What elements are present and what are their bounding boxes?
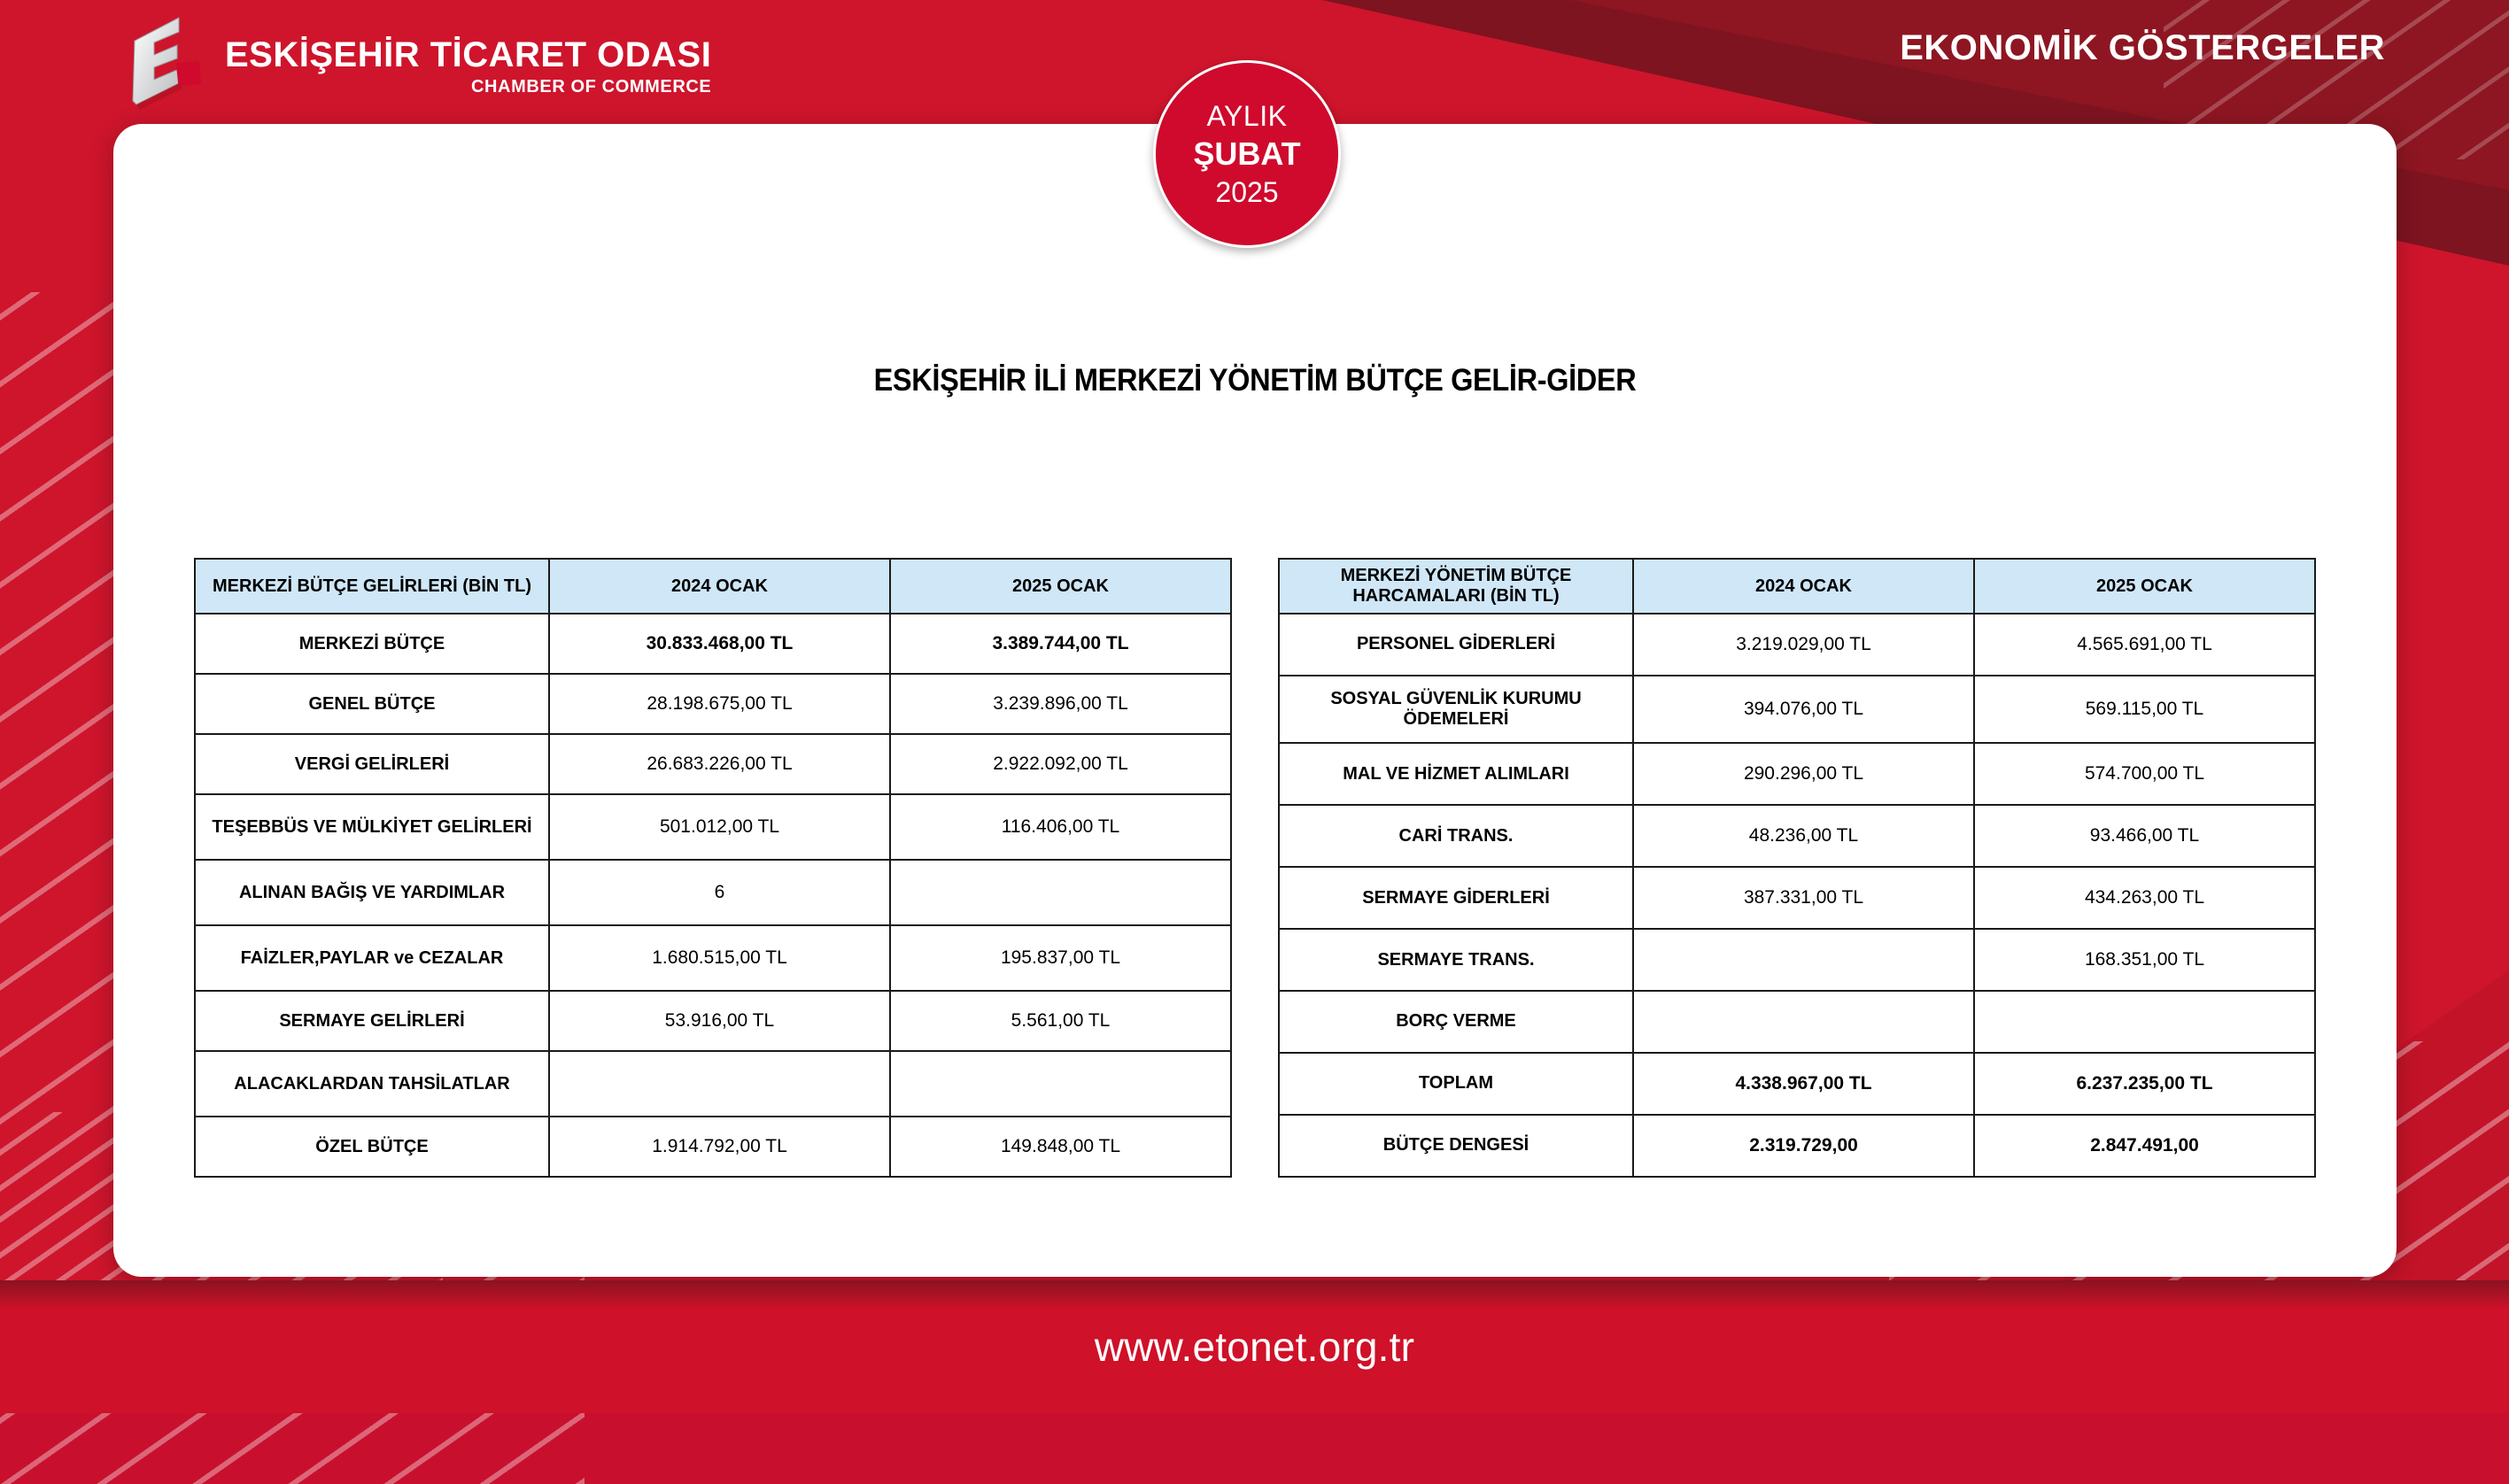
cell-value-2024: 28.198.675,00 TL	[549, 674, 890, 734]
table-row: TOPLAM4.338.967,00 TL6.237.235,00 TL	[1279, 1053, 2315, 1115]
cell-value-2025: 434.263,00 TL	[1974, 867, 2315, 929]
table-row: SOSYAL GÜVENLİK KURUMU ÖDEMELERİ394.076,…	[1279, 676, 2315, 743]
cell-value-2024	[549, 1051, 890, 1117]
cell-value-2024	[1633, 929, 1974, 991]
cell-value-2024: 53.916,00 TL	[549, 991, 890, 1051]
cell-value-2024: 1.914.792,00 TL	[549, 1117, 890, 1177]
table-row: FAİZLER,PAYLAR ve CEZALAR1.680.515,00 TL…	[195, 925, 1231, 991]
table-row: CARİ TRANS.48.236,00 TL93.466,00 TL	[1279, 805, 2315, 867]
revenues-header-label: MERKEZİ BÜTÇE GELİRLERİ (BİN TL)	[195, 559, 549, 614]
cell-value-2025: 569.115,00 TL	[1974, 676, 2315, 743]
eto-logo-icon	[124, 16, 205, 112]
table-row: ALINAN BAĞIŞ VE YARDIMLAR6	[195, 860, 1231, 925]
expenditures-table-body: PERSONEL GİDERLERİ3.219.029,00 TL4.565.6…	[1279, 614, 2315, 1177]
table-row: SERMAYE GİDERLERİ387.331,00 TL434.263,00…	[1279, 867, 2315, 929]
row-label: TOPLAM	[1279, 1053, 1633, 1115]
cell-value-2024: 30.833.468,00 TL	[549, 614, 890, 674]
cell-value-2025: 168.351,00 TL	[1974, 929, 2315, 991]
table-row: BORÇ VERME	[1279, 991, 2315, 1053]
cell-value-2024	[1633, 991, 1974, 1053]
cell-value-2024: 26.683.226,00 TL	[549, 734, 890, 794]
table-row: ÖZEL BÜTÇE1.914.792,00 TL149.848,00 TL	[195, 1117, 1231, 1177]
cell-value-2024: 4.338.967,00 TL	[1633, 1053, 1974, 1115]
cell-value-2025	[890, 1051, 1231, 1117]
expenditures-header-label: MERKEZİ YÖNETİM BÜTÇE HARCAMALARI (BİN T…	[1279, 559, 1633, 614]
report-type-title: EKONOMİK GÖSTERGELER	[1900, 28, 2385, 68]
table-row: SERMAYE GELİRLERİ53.916,00 TL5.561,00 TL	[195, 991, 1231, 1051]
table-header-row: MERKEZİ BÜTÇE GELİRLERİ (BİN TL) 2024 OC…	[195, 559, 1231, 614]
row-label: SOSYAL GÜVENLİK KURUMU ÖDEMELERİ	[1279, 676, 1633, 743]
content-card: ESKİŞEHİR İLİ MERKEZİ YÖNETİM BÜTÇE GELİ…	[113, 124, 2397, 1277]
table-header-row: MERKEZİ YÖNETİM BÜTÇE HARCAMALARI (BİN T…	[1279, 559, 2315, 614]
period-badge: AYLIK ŞUBAT 2025	[1153, 60, 1341, 248]
table-row: MAL VE HİZMET ALIMLARI290.296,00 TL574.7…	[1279, 743, 2315, 805]
table-row: GENEL BÜTÇE28.198.675,00 TL3.239.896,00 …	[195, 674, 1231, 734]
row-label: ALINAN BAĞIŞ VE YARDIMLAR	[195, 860, 549, 925]
revenues-header-2024: 2024 OCAK	[549, 559, 890, 614]
cell-value-2025: 5.561,00 TL	[890, 991, 1231, 1051]
row-label: GENEL BÜTÇE	[195, 674, 549, 734]
cell-value-2024: 48.236,00 TL	[1633, 805, 1974, 867]
table-row: VERGİ GELİRLERİ26.683.226,00 TL2.922.092…	[195, 734, 1231, 794]
cell-value-2025: 2.847.491,00	[1974, 1115, 2315, 1177]
cell-value-2025: 3.389.744,00 TL	[890, 614, 1231, 674]
cell-value-2025	[1974, 991, 2315, 1053]
page-title: ESKİŞEHİR İLİ MERKEZİ YÖNETİM BÜTÇE GELİ…	[193, 363, 2317, 398]
cell-value-2024: 394.076,00 TL	[1633, 676, 1974, 743]
row-label: SERMAYE GİDERLERİ	[1279, 867, 1633, 929]
cell-value-2025: 3.239.896,00 TL	[890, 674, 1231, 734]
cell-value-2025: 6.237.235,00 TL	[1974, 1053, 2315, 1115]
cell-value-2024: 3.219.029,00 TL	[1633, 614, 1974, 676]
cell-value-2024: 501.012,00 TL	[549, 794, 890, 860]
expenditures-header-2024: 2024 OCAK	[1633, 559, 1974, 614]
row-label: PERSONEL GİDERLERİ	[1279, 614, 1633, 676]
organization-names: ESKİŞEHİR TİCARET ODASI CHAMBER OF COMME…	[225, 31, 711, 97]
row-label: FAİZLER,PAYLAR ve CEZALAR	[195, 925, 549, 991]
cell-value-2025	[890, 860, 1231, 925]
website-url[interactable]: www.etonet.org.tr	[1095, 1323, 1414, 1371]
row-label: ÖZEL BÜTÇE	[195, 1117, 549, 1177]
expenditures-header-2025: 2025 OCAK	[1974, 559, 2315, 614]
table-row: ALACAKLARDAN TAHSİLATLAR	[195, 1051, 1231, 1117]
row-label: SERMAYE GELİRLERİ	[195, 991, 549, 1051]
table-row: SERMAYE TRANS.168.351,00 TL	[1279, 929, 2315, 991]
organization-name-tr: ESKİŞEHİR TİCARET ODASI	[225, 36, 711, 73]
table-row: PERSONEL GİDERLERİ3.219.029,00 TL4.565.6…	[1279, 614, 2315, 676]
expenditures-table: MERKEZİ YÖNETİM BÜTÇE HARCAMALARI (BİN T…	[1278, 558, 2316, 1178]
row-label: BORÇ VERME	[1279, 991, 1633, 1053]
row-label: CARİ TRANS.	[1279, 805, 1633, 867]
row-label: SERMAYE TRANS.	[1279, 929, 1633, 991]
table-row: BÜTÇE DENGESİ2.319.729,002.847.491,00	[1279, 1115, 2315, 1177]
row-label: MERKEZİ BÜTÇE	[195, 614, 549, 674]
row-label: BÜTÇE DENGESİ	[1279, 1115, 1633, 1177]
row-label: TEŞEBBÜS VE MÜLKİYET GELİRLERİ	[195, 794, 549, 860]
table-row: MERKEZİ BÜTÇE30.833.468,00 TL3.389.744,0…	[195, 614, 1231, 674]
row-label: MAL VE HİZMET ALIMLARI	[1279, 743, 1633, 805]
badge-period-label: AYLIK	[1207, 98, 1288, 134]
revenues-header-2025: 2025 OCAK	[890, 559, 1231, 614]
badge-month: ŞUBAT	[1193, 134, 1300, 175]
cell-value-2025: 195.837,00 TL	[890, 925, 1231, 991]
organization-logo-block: ESKİŞEHİR TİCARET ODASI CHAMBER OF COMME…	[124, 16, 711, 112]
cell-value-2024: 387.331,00 TL	[1633, 867, 1974, 929]
cell-value-2025: 93.466,00 TL	[1974, 805, 2315, 867]
cell-value-2024: 1.680.515,00 TL	[549, 925, 890, 991]
row-label: ALACAKLARDAN TAHSİLATLAR	[195, 1051, 549, 1117]
cell-value-2025: 4.565.691,00 TL	[1974, 614, 2315, 676]
organization-name-en: CHAMBER OF COMMERCE	[225, 77, 711, 97]
cell-value-2025: 149.848,00 TL	[890, 1117, 1231, 1177]
table-row: TEŞEBBÜS VE MÜLKİYET GELİRLERİ501.012,00…	[195, 794, 1231, 860]
page-footer: www.etonet.org.tr	[0, 1280, 2509, 1413]
cell-value-2025: 2.922.092,00 TL	[890, 734, 1231, 794]
cell-value-2024: 2.319.729,00	[1633, 1115, 1974, 1177]
cell-value-2025: 116.406,00 TL	[890, 794, 1231, 860]
tables-container: MERKEZİ BÜTÇE GELİRLERİ (BİN TL) 2024 OC…	[113, 558, 2397, 1178]
row-label: VERGİ GELİRLERİ	[195, 734, 549, 794]
revenues-table: MERKEZİ BÜTÇE GELİRLERİ (BİN TL) 2024 OC…	[194, 558, 1232, 1178]
revenues-table-body: MERKEZİ BÜTÇE30.833.468,00 TL3.389.744,0…	[195, 614, 1231, 1177]
cell-value-2024: 290.296,00 TL	[1633, 743, 1974, 805]
cell-value-2024: 6	[549, 860, 890, 925]
cell-value-2025: 574.700,00 TL	[1974, 743, 2315, 805]
badge-year: 2025	[1215, 174, 1278, 210]
